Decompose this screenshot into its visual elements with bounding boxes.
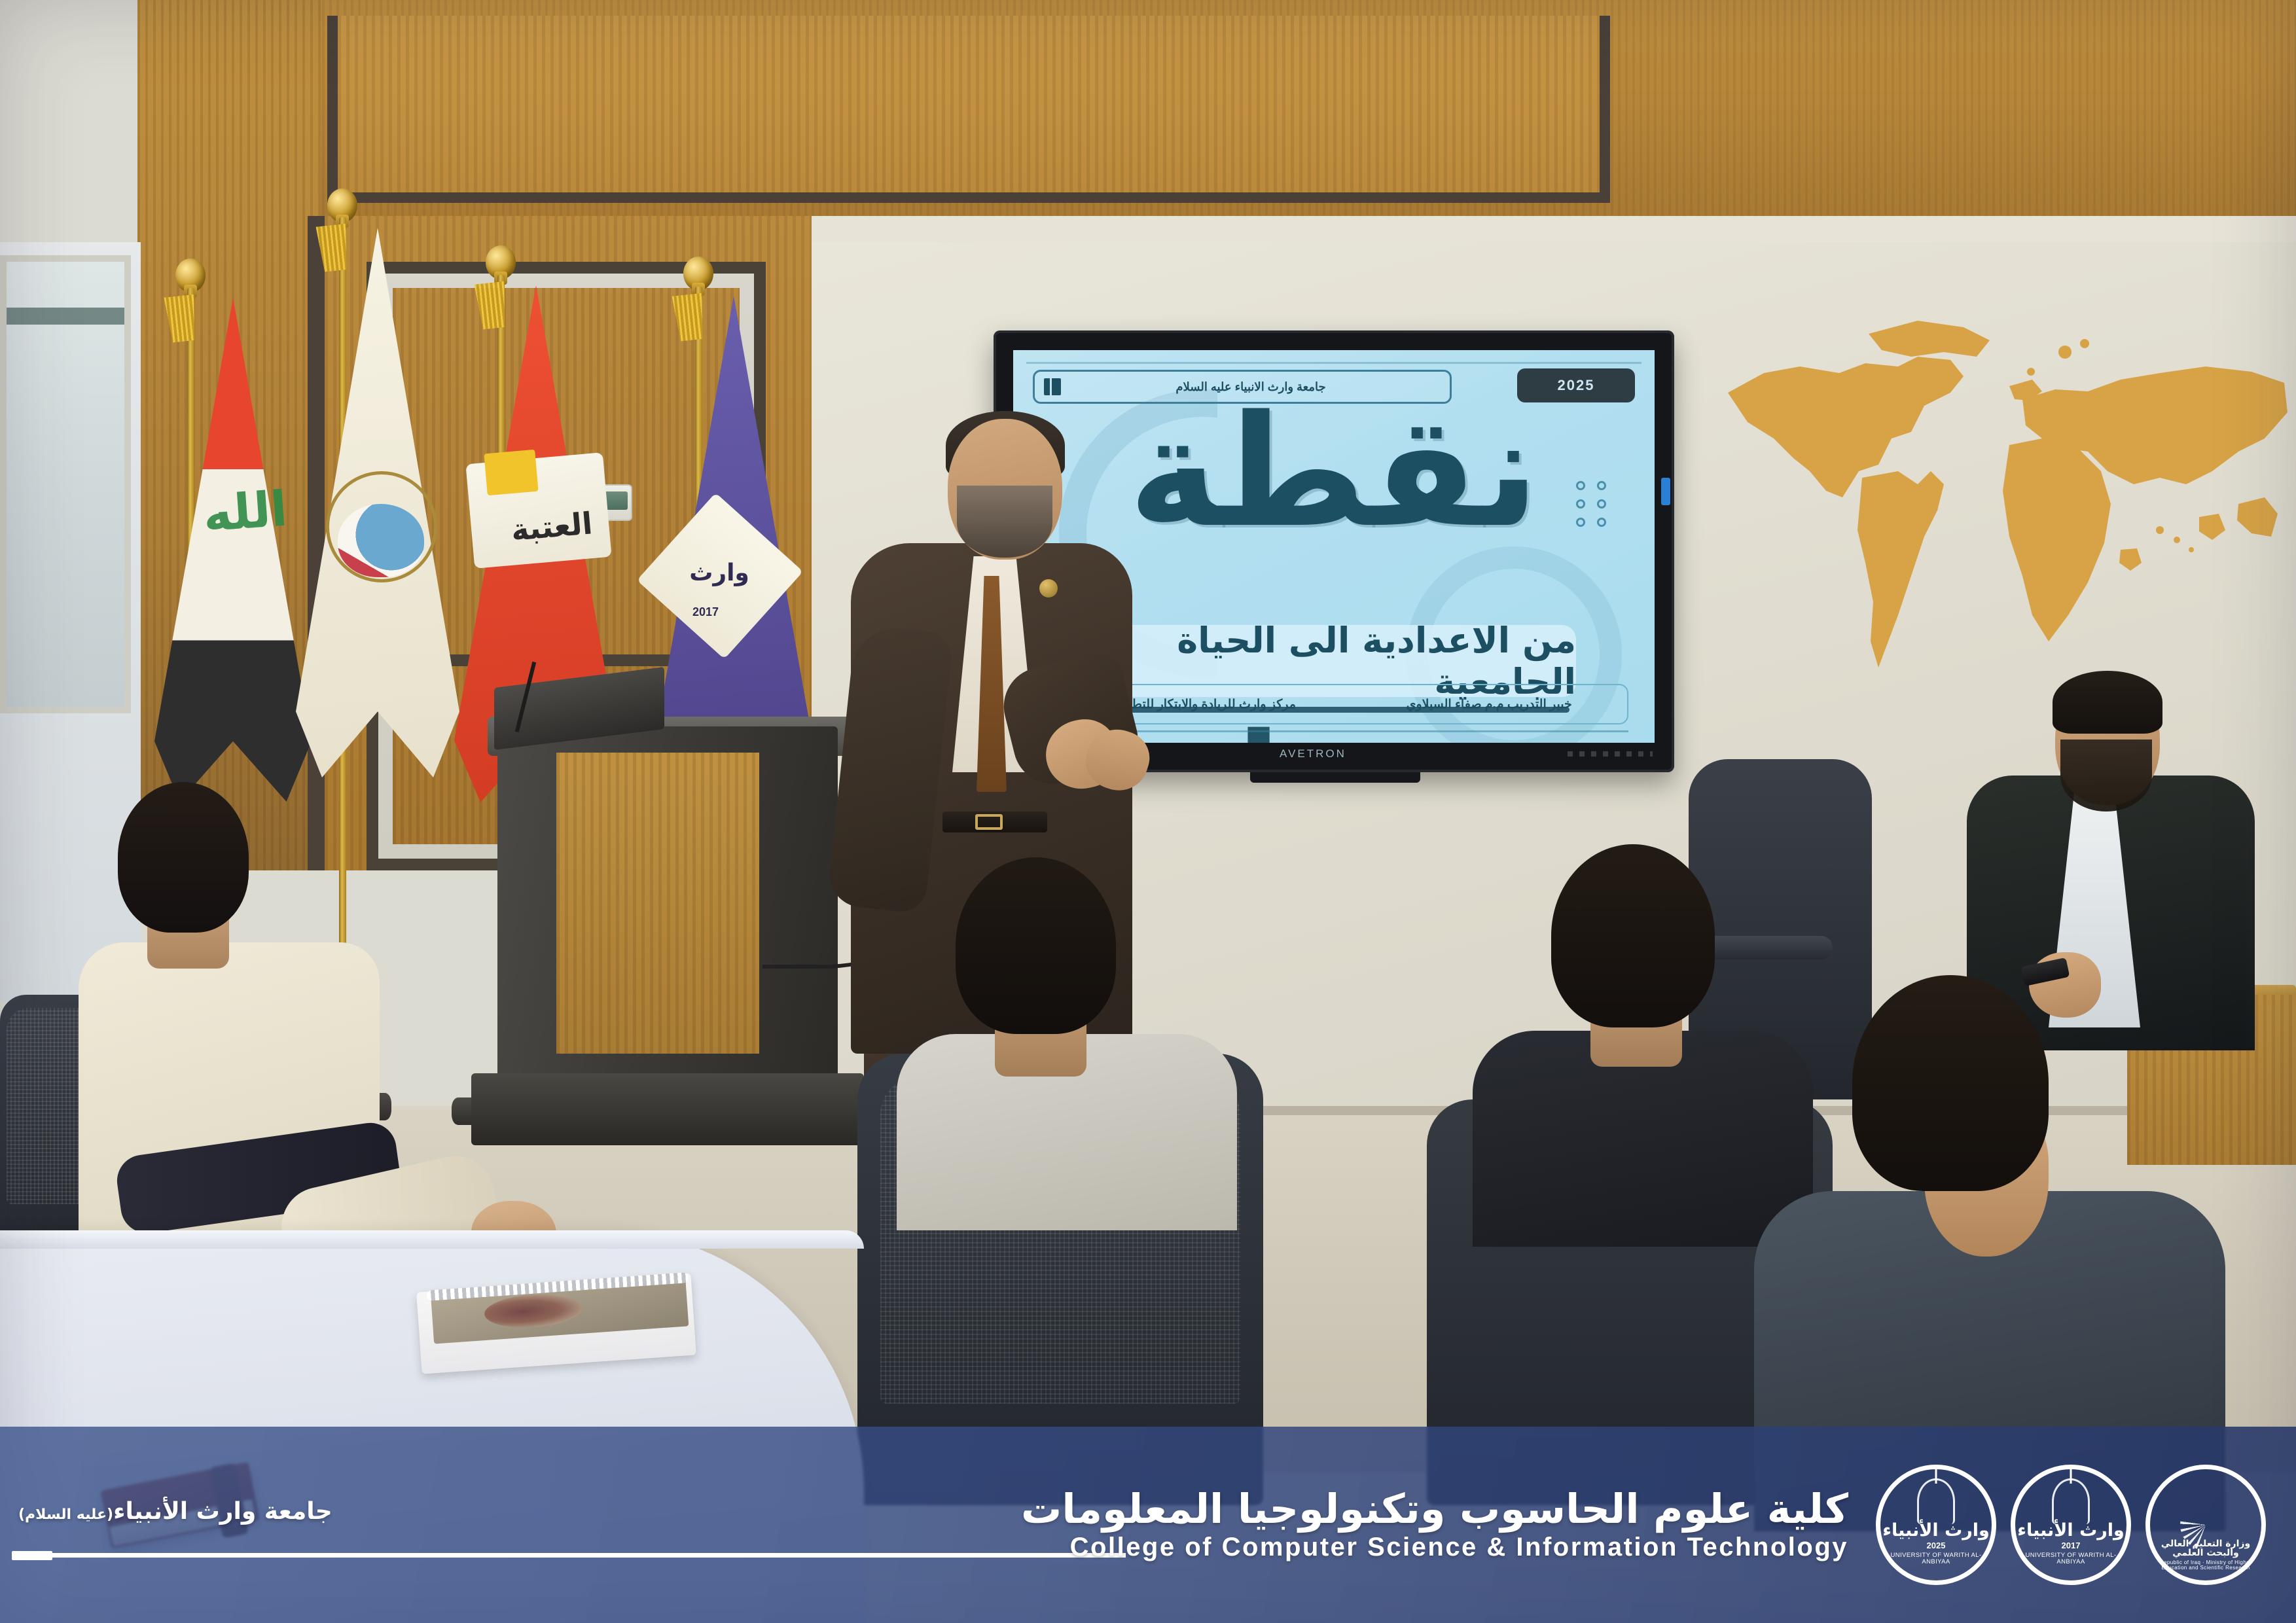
audience-member-1-head [118,782,249,933]
logo-english-name: UNIVERSITY OF WARITH AL-ANBIYAA [1880,1552,1992,1565]
presenter-lapel-pin [1039,579,1058,597]
flag-emblem-shrine-icon [484,450,538,496]
logo-english-name: Republic of Iraq · Ministry of Higher Ed… [2150,1560,2261,1571]
slide-bottom-rule [1052,730,1628,732]
flag-emblem-year: 2017 [692,605,719,619]
flag-emblem-sunburst [338,504,424,577]
presenter-belt-buckle [975,814,1003,830]
footer-title-english: College of Computer Science & Informatio… [1021,1533,1848,1562]
display-brand-label: AVETRON [1280,747,1346,760]
logo-year: 2017 [2015,1541,2126,1550]
podium-wood-face [556,753,759,1054]
logo-arabic-name: وارث الأنبياء [1880,1522,1992,1539]
audience-member-2-head [956,857,1116,1034]
slide-dot-grid [1576,481,1609,527]
display-port-row [1568,751,1653,757]
flag-finial [683,257,713,291]
logo-english-name: UNIVERSITY OF WARITH AL-ANBIYAA [2015,1552,2126,1565]
slide-footer-chip: خبير التدريب م.م صفاء السيلاوي مركز وارث… [1059,684,1628,724]
glass-door-band [7,308,124,325]
footer-university-label: جامعة وارث الأنبياء(عليه السلام) [18,1498,332,1525]
logo-ministry-higher-education: وزارة التعليم العالي والبحث العلمي Repub… [2145,1465,2266,1585]
audience-member-3-head [1551,844,1715,1027]
slide-top-rule [1026,362,1641,364]
footer-titles: كلية علوم الحاسوب وتكنولوجيا المعلومات C… [1021,1488,1848,1563]
footer-content: كلية علوم الحاسوب وتكنولوجيا المعلومات C… [0,1427,2296,1623]
footer-banner: كلية علوم الحاسوب وتكنولوجيا المعلومات C… [0,1427,2296,1623]
ceiling-wood-inset [327,16,1610,203]
slide-footer-presenter: خبير التدريب م.م صفاء السيلاوي [1407,697,1572,712]
logo-university-warith: وارث الأنبياء 2017 UNIVERSITY OF WARITH … [2011,1465,2131,1585]
dome-icon [2052,1478,2090,1524]
logo-arabic-name: وارث الأنبياء [2015,1522,2126,1539]
footer-university-suffix: (عليه السلام) [18,1507,113,1523]
seated-presenter-hair [2053,671,2162,734]
sunburst-icon [2180,1499,2231,1550]
screenshot-root: الله العتبة وارث 2017 [0,0,2296,1623]
display-chin [1250,772,1420,783]
seated-presenter-beard [2060,740,2152,811]
audience-member-4-head [1852,975,2049,1191]
dome-icon [1917,1478,1955,1524]
footer-logo-group: وارث الأنبياء 2025 UNIVERSITY OF WARITH … [1876,1465,2266,1585]
book-icon [1044,378,1061,395]
presenter-beard [957,486,1052,558]
conference-table-edge [0,1230,864,1249]
slide-footer-center: مركز وارث للريادة والابتكار للتطوير [1115,697,1296,712]
flag-emblem-text: وارث [670,560,768,599]
slide-title-primary: نقطة [1013,399,1655,545]
display-side-indicator [1661,478,1670,505]
footer-title-arabic: كلية علوم الحاسوب وتكنولوجيا المعلومات [1021,1488,1848,1531]
flag-iraq-takbir: الله [181,481,291,567]
podium-base [471,1073,864,1145]
footer-university-name: جامعة وارث الأنبياء [113,1498,332,1525]
world-map-decal [1702,275,2291,707]
logo-college-ccsit: وارث الأنبياء 2025 UNIVERSITY OF WARITH … [1876,1465,1996,1585]
logo-year: 2025 [1880,1541,1992,1550]
